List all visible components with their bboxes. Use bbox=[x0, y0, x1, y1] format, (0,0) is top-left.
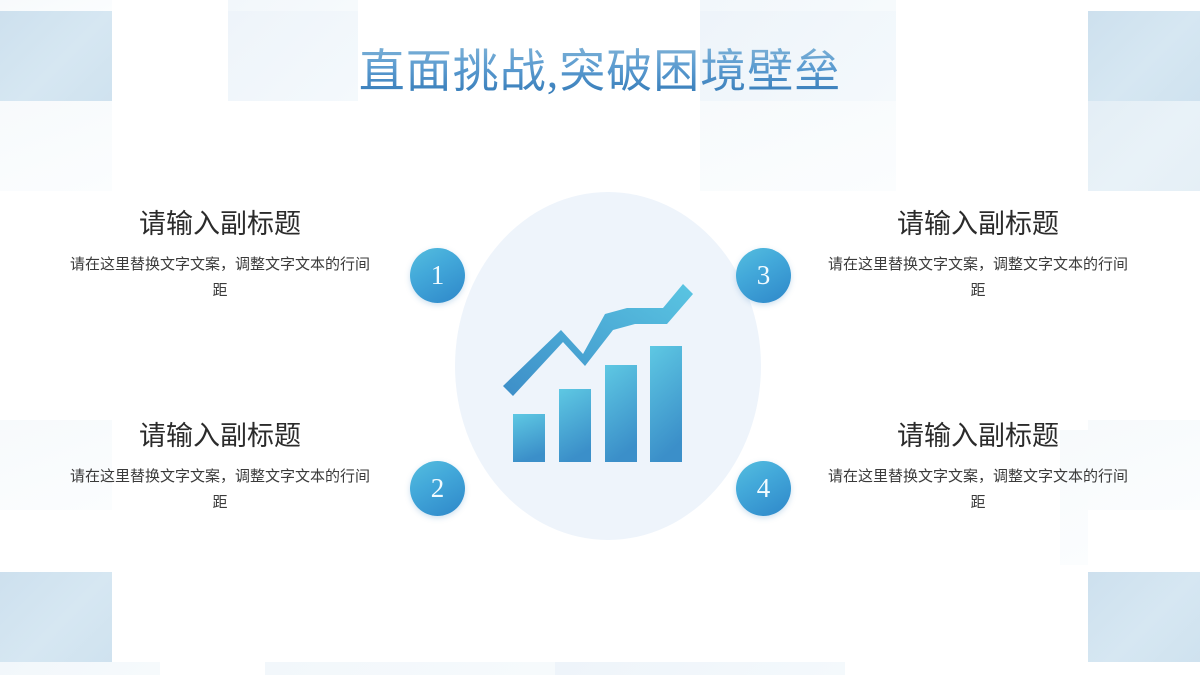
bg-block-bottom-right bbox=[1088, 572, 1200, 662]
text-block-1-body: 请在这里替换文字文案，调整文字文本的行间距 bbox=[64, 252, 376, 305]
text-block-2-heading: 请输入副标题 bbox=[64, 420, 376, 454]
bg-block-bottom-strip-a bbox=[265, 662, 555, 675]
text-block-1-heading: 请输入副标题 bbox=[64, 208, 376, 242]
text-block-2: 请输入副标题 请在这里替换文字文案，调整文字文本的行间距 bbox=[64, 420, 376, 516]
bg-block-top-strip-b bbox=[228, 0, 358, 11]
step-badge-3[interactable]: 3 bbox=[736, 248, 791, 303]
bg-block-top-strip-c bbox=[700, 0, 896, 11]
bg-block-bottom-left bbox=[0, 572, 112, 662]
bg-block-bottom-strip-b bbox=[555, 662, 845, 675]
growth-bar-chart-icon bbox=[487, 268, 715, 478]
bg-block-upper-right bbox=[1088, 101, 1200, 191]
text-block-1: 请输入副标题 请在这里替换文字文案，调整文字文本的行间距 bbox=[64, 208, 376, 304]
step-badge-2[interactable]: 2 bbox=[410, 461, 465, 516]
slide-canvas: 直面挑战,突破困境壁垒 1 2 3 4 请输入副标题 请在这里替换文字文案，调整… bbox=[0, 0, 1200, 675]
text-block-4: 请输入副标题 请在这里替换文字文案，调整文字文本的行间距 bbox=[822, 420, 1134, 516]
text-block-3: 请输入副标题 请在这里替换文字文案，调整文字文本的行间距 bbox=[822, 208, 1134, 304]
bg-block-upper-mid bbox=[700, 101, 896, 191]
text-block-3-heading: 请输入副标题 bbox=[822, 208, 1134, 242]
text-block-2-body: 请在这里替换文字文案，调整文字文本的行间距 bbox=[64, 464, 376, 517]
bg-block-upper-left bbox=[0, 101, 112, 191]
bg-block-bottom-strip-c bbox=[0, 662, 160, 675]
bg-block-top-strip-a bbox=[0, 0, 112, 11]
page-title: 直面挑战,突破困境壁垒 bbox=[0, 44, 1200, 100]
step-badge-1[interactable]: 1 bbox=[410, 248, 465, 303]
step-badge-4[interactable]: 4 bbox=[736, 461, 791, 516]
text-block-3-body: 请在这里替换文字文案，调整文字文本的行间距 bbox=[822, 252, 1134, 305]
text-block-4-body: 请在这里替换文字文案，调整文字文本的行间距 bbox=[822, 464, 1134, 517]
text-block-4-heading: 请输入副标题 bbox=[822, 420, 1134, 454]
